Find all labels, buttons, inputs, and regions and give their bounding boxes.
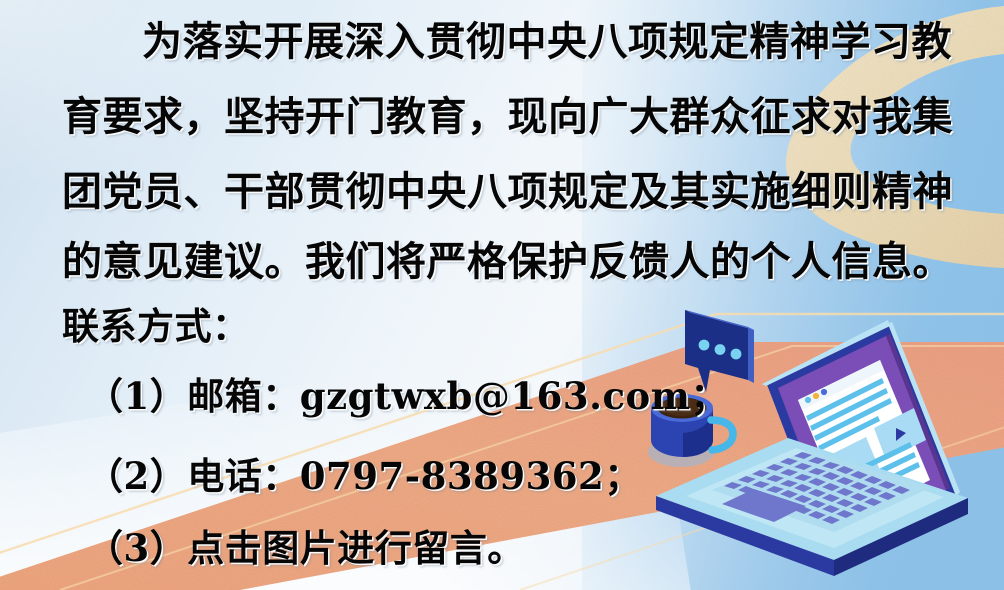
contact-label-email: 邮箱：: [187, 374, 300, 418]
contact-item-phone[interactable]: （2）电话：0797-8389362；: [86, 458, 642, 495]
body-line-4: 的意见建议。我们将严格保护反馈人的个人信息。: [62, 242, 953, 282]
contact-marker-2: （2）: [86, 454, 187, 498]
contact-label-phone: 电话：: [187, 454, 300, 498]
body-line-3: 团党员、干部贯彻中央八项规定及其实施细则精神: [62, 172, 953, 212]
contact-item-message[interactable]: （3）点击图片进行留言。: [86, 530, 525, 567]
poster-canvas: 为落实开展深入贯彻中央八项规定精神学习教 育要求，坚持开门教育，现向广大群众征求…: [0, 0, 1004, 590]
body-line-1: 为落实开展深入贯彻中央八项规定精神学习教: [142, 22, 952, 62]
contact-value-email: gzgtwxb@163.com；: [300, 374, 728, 418]
contact-heading: 联系方式：: [62, 308, 250, 345]
contact-label-message: 点击图片进行留言。: [187, 526, 525, 570]
contact-marker-1: （1）: [86, 374, 187, 418]
body-line-2: 育要求，坚持开门教育，现向广大群众征求对我集: [62, 97, 953, 137]
contact-marker-3: （3）: [86, 526, 187, 570]
contact-value-phone: 0797-8389362；: [300, 454, 642, 498]
contact-item-email[interactable]: （1）邮箱：gzgtwxb@163.com；: [86, 378, 728, 415]
